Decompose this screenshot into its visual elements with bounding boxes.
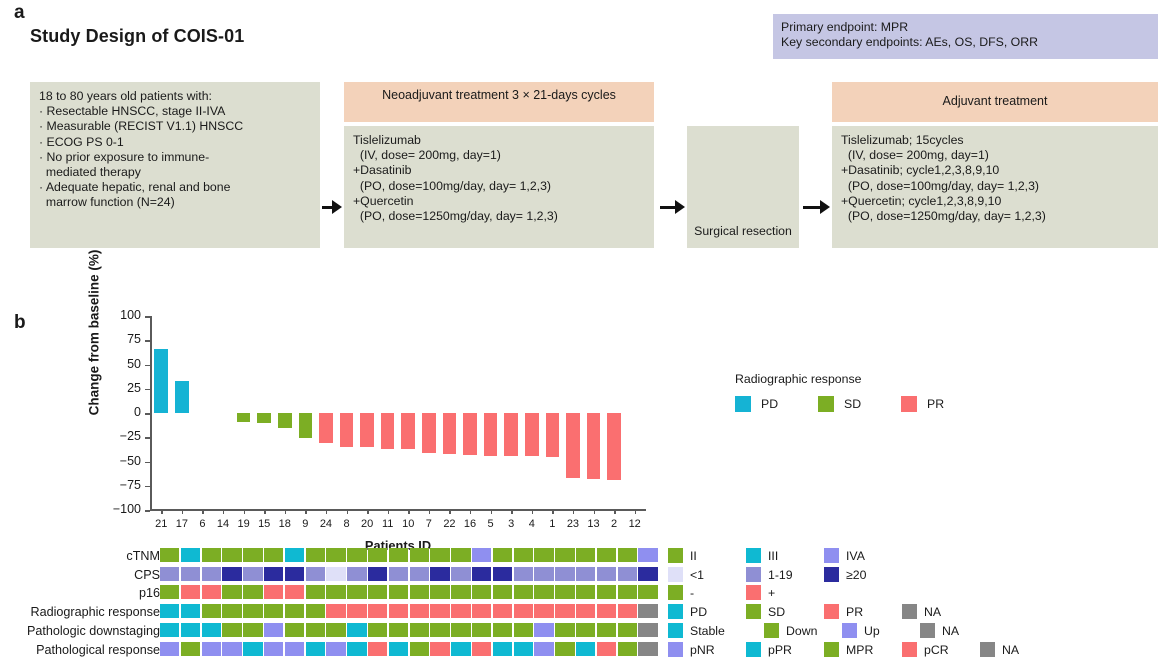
x-tick-label: 9: [295, 518, 316, 530]
heatmap-cell: [451, 604, 470, 618]
waterfall-bar: [484, 413, 498, 456]
heatmap-legend-label: pPR: [768, 643, 792, 657]
x-tick-mark: [614, 510, 615, 514]
heatmap-cell: [576, 585, 595, 599]
legend-label: PR: [927, 397, 944, 411]
heatmap-cell: [202, 567, 221, 581]
heatmap-cell: [597, 642, 616, 656]
heatmap-cell: [430, 604, 449, 618]
heatmap-legend-label: NA: [924, 605, 941, 619]
heatmap-cell: [181, 604, 200, 618]
heatmap-cell: [347, 623, 366, 637]
waterfall-bar: [587, 413, 601, 479]
x-tick-label: 8: [336, 518, 357, 530]
heatmap-cell: [264, 567, 283, 581]
heatmap-legend-label: IVA: [846, 549, 865, 563]
heatmap-cell: [534, 604, 553, 618]
neoadjuvant-header: Neoadjuvant treatment 3 × 21-days cycles: [344, 82, 654, 122]
x-tick-label: 11: [377, 518, 398, 530]
waterfall-bar: [525, 413, 539, 456]
heatmap-legend-label: III: [768, 549, 778, 563]
heatmap-cell: [243, 604, 262, 618]
heatmap-cell: [368, 642, 387, 656]
heatmap-row-label: Pathologic downstaging: [0, 624, 160, 638]
heatmap-cell: [576, 548, 595, 562]
adjuvant-text: Tislelizumab; 15cycles (IV, dose= 200mg,…: [832, 126, 1158, 224]
waterfall-bar: [401, 413, 415, 449]
heatmap-cell: [285, 567, 304, 581]
arrow-neoadjuvant-to-surgery: [660, 200, 686, 214]
heatmap-cell: [514, 604, 533, 618]
x-tick-label: 15: [254, 518, 275, 530]
x-tick-label: 12: [624, 518, 645, 530]
heatmap-cell: [534, 642, 553, 656]
x-tick-label: 5: [480, 518, 501, 530]
waterfall-bar: [566, 413, 580, 478]
heatmap-cell: [389, 623, 408, 637]
x-tick-mark: [388, 510, 389, 514]
heatmap-cell: [410, 623, 429, 637]
heatmap-cell: [618, 585, 637, 599]
heatmap-cell: [243, 567, 262, 581]
heatmap-cell: [347, 604, 366, 618]
heatmap-cell: [160, 604, 179, 618]
heatmap-legend-swatch: [902, 604, 917, 619]
heatmap-cell: [368, 567, 387, 581]
heatmap-legend-swatch: [668, 548, 683, 563]
heatmap-cell: [493, 623, 512, 637]
x-tick-mark: [594, 510, 595, 514]
heatmap-cell: [638, 567, 657, 581]
x-tick-mark: [202, 510, 203, 514]
x-tick-mark: [347, 510, 348, 514]
heatmap-cell: [514, 642, 533, 656]
eligibility-text: 18 to 80 years old patients with: · Rese…: [30, 82, 320, 211]
heatmap-cell: [389, 642, 408, 656]
heatmap-cell: [638, 642, 657, 656]
heatmap-legend-label: SD: [768, 605, 785, 619]
heatmap-cell: [326, 623, 345, 637]
heatmap-cell: [285, 548, 304, 562]
heatmap-cell: [306, 604, 325, 618]
x-tick-mark: [326, 510, 327, 514]
x-tick-label: 14: [213, 518, 234, 530]
x-tick-mark: [491, 510, 492, 514]
heatmap-legend-label: MPR: [846, 643, 873, 657]
waterfall-bar: [340, 413, 354, 447]
waterfall-bar: [422, 413, 436, 453]
panel-a-letter: a: [14, 2, 25, 24]
adjuvant-header: Adjuvant treatment: [832, 82, 1158, 122]
x-tick-mark: [573, 510, 574, 514]
clinical-annotation-heatmap: cTNMIIIIIIVACPS<11-19≥20p16-+Radiographi…: [0, 548, 1169, 668]
heatmap-cell: [222, 567, 241, 581]
x-tick-mark: [305, 510, 306, 514]
waterfall-bar: [360, 413, 374, 447]
x-tick-mark: [161, 510, 162, 514]
waterfall-bar: [299, 413, 313, 438]
heatmap-cell: [514, 548, 533, 562]
heatmap-cell: [202, 585, 221, 599]
x-tick-label: 21: [151, 518, 172, 530]
heatmap-legend-label: NA: [1002, 643, 1019, 657]
heatmap-cell: [514, 585, 533, 599]
heatmap-legend-swatch: [746, 548, 761, 563]
heatmap-cell: [368, 604, 387, 618]
heatmap-row-label: Pathological response: [0, 643, 160, 657]
x-tick-label: 7: [419, 518, 440, 530]
y-axis-label: Change from baseline (%): [87, 233, 102, 433]
heatmap-legend-swatch: [902, 642, 917, 657]
waterfall-bar: [319, 413, 333, 443]
heatmap-cell: [243, 585, 262, 599]
heatmap-legend-label: +: [768, 586, 775, 600]
heatmap-cell: [597, 567, 616, 581]
waterfall-bar: [463, 413, 477, 455]
heatmap-cell: [493, 642, 512, 656]
heatmap-legend-label: Up: [864, 624, 880, 638]
waterfall-bar: [443, 413, 457, 454]
heatmap-cell: [202, 642, 221, 656]
heatmap-cell: [389, 548, 408, 562]
heatmap-legend-label: 1-19: [768, 568, 793, 582]
x-tick-mark: [429, 510, 430, 514]
heatmap-legend-swatch: [764, 623, 779, 638]
heatmap-cell: [597, 548, 616, 562]
heatmap-cell: [555, 642, 574, 656]
x-tick-label: 18: [275, 518, 296, 530]
heatmap-cell: [576, 623, 595, 637]
heatmap-legend-label: Down: [786, 624, 817, 638]
heatmap-legend-swatch: [824, 567, 839, 582]
heatmap-cell: [326, 642, 345, 656]
heatmap-cell: [160, 548, 179, 562]
heatmap-legend-swatch: [920, 623, 935, 638]
heatmap-cell: [430, 548, 449, 562]
heatmap-cell: [618, 623, 637, 637]
heatmap-cell: [514, 567, 533, 581]
waterfall-bar: [381, 413, 395, 449]
heatmap-cell: [618, 642, 637, 656]
heatmap-cell: [618, 548, 637, 562]
heatmap-legend-label: PR: [846, 605, 863, 619]
heatmap-cell: [472, 604, 491, 618]
y-tick-label: 0: [105, 405, 141, 419]
heatmap-cell: [555, 585, 574, 599]
heatmap-legend-swatch: [824, 604, 839, 619]
x-tick-mark: [367, 510, 368, 514]
heatmap-cell: [285, 585, 304, 599]
heatmap-cell: [243, 623, 262, 637]
heatmap-cell: [576, 642, 595, 656]
x-tick-label: 2: [604, 518, 625, 530]
heatmap-cell: [534, 548, 553, 562]
heatmap-cell: [222, 623, 241, 637]
heatmap-cell: [222, 585, 241, 599]
waterfall-bar: [607, 413, 621, 480]
heatmap-legend-label: -: [690, 586, 694, 600]
heatmap-cell: [160, 642, 179, 656]
heatmap-cell: [555, 604, 574, 618]
heatmap-cell: [181, 567, 200, 581]
heatmap-cell: [618, 604, 637, 618]
heatmap-legend-swatch: [824, 548, 839, 563]
heatmap-legend-label: PD: [690, 605, 707, 619]
y-tick-label: 50: [105, 357, 141, 371]
heatmap-cell: [576, 604, 595, 618]
heatmap-cell: [555, 623, 574, 637]
panel-b-letter: b: [14, 312, 26, 334]
legend-swatch: [901, 396, 917, 412]
heatmap-cell: [326, 548, 345, 562]
legend-swatch: [818, 396, 834, 412]
heatmap-cell: [306, 623, 325, 637]
heatmap-cell: [347, 585, 366, 599]
heatmap-cell: [202, 623, 221, 637]
study-design-title: Study Design of COIS-01: [30, 26, 244, 47]
heatmap-cell: [576, 567, 595, 581]
x-tick-label: 4: [522, 518, 543, 530]
heatmap-cell: [638, 548, 657, 562]
radiographic-response-legend-title: Radiographic response: [735, 372, 861, 386]
heatmap-cell: [410, 642, 429, 656]
heatmap-cell: [202, 604, 221, 618]
heatmap-cell: [430, 585, 449, 599]
heatmap-legend-swatch: [668, 642, 683, 657]
x-tick-label: 13: [583, 518, 604, 530]
heatmap-cell: [430, 623, 449, 637]
legend-swatch: [735, 396, 751, 412]
y-tick-label: −50: [105, 454, 141, 468]
heatmap-cell: [389, 585, 408, 599]
x-tick-mark: [532, 510, 533, 514]
heatmap-cell: [638, 604, 657, 618]
heatmap-cell: [389, 604, 408, 618]
heatmap-cell: [306, 642, 325, 656]
heatmap-row-label: p16: [0, 586, 160, 600]
heatmap-cell: [264, 604, 283, 618]
heatmap-cell: [472, 548, 491, 562]
heatmap-cell: [618, 567, 637, 581]
x-tick-label: 10: [398, 518, 419, 530]
x-tick-label: 1: [542, 518, 563, 530]
heatmap-cell: [555, 548, 574, 562]
x-tick-label: 22: [439, 518, 460, 530]
heatmap-cell: [326, 604, 345, 618]
heatmap-cell: [347, 548, 366, 562]
heatmap-cell: [306, 567, 325, 581]
heatmap-cell: [451, 585, 470, 599]
heatmap-cell: [347, 567, 366, 581]
heatmap-cell: [264, 548, 283, 562]
heatmap-cell: [430, 642, 449, 656]
x-tick-label: 17: [172, 518, 193, 530]
heatmap-cell: [472, 567, 491, 581]
waterfall-bar: [546, 413, 560, 457]
heatmap-cell: [534, 567, 553, 581]
heatmap-cell: [493, 604, 512, 618]
heatmap-cell: [451, 548, 470, 562]
arrow-surgery-to-adjuvant: [803, 200, 831, 214]
heatmap-legend-swatch: [668, 623, 683, 638]
heatmap-cell: [243, 642, 262, 656]
surgical-resection-label: Surgical resection: [687, 224, 799, 238]
heatmap-legend-label: Stable: [690, 624, 725, 638]
heatmap-cell: [160, 567, 179, 581]
heatmap-cell: [472, 623, 491, 637]
heatmap-cell: [451, 567, 470, 581]
heatmap-cell: [410, 567, 429, 581]
x-tick-mark: [244, 510, 245, 514]
heatmap-cell: [285, 623, 304, 637]
heatmap-legend-swatch: [746, 585, 761, 600]
heatmap-cell: [389, 567, 408, 581]
heatmap-cell: [597, 585, 616, 599]
heatmap-cell: [181, 623, 200, 637]
heatmap-cell: [410, 604, 429, 618]
x-tick-label: 16: [460, 518, 481, 530]
heatmap-cell: [222, 642, 241, 656]
heatmap-cell: [202, 548, 221, 562]
heatmap-legend-swatch: [668, 567, 683, 582]
heatmap-cell: [243, 548, 262, 562]
heatmap-cell: [597, 623, 616, 637]
x-tick-mark: [552, 510, 553, 514]
legend-label: SD: [844, 397, 861, 411]
x-tick-label: 23: [563, 518, 584, 530]
endpoints-box: Primary endpoint: MPR Key secondary endp…: [773, 14, 1158, 59]
x-tick-label: 6: [192, 518, 213, 530]
heatmap-cell: [285, 642, 304, 656]
neoadjuvant-text: Tislelizumab (IV, dose= 200mg, day=1) +D…: [344, 126, 654, 224]
heatmap-legend-label: NA: [942, 624, 959, 638]
heatmap-cell: [368, 585, 387, 599]
legend-label: PD: [761, 397, 778, 411]
x-tick-mark: [449, 510, 450, 514]
x-tick-mark: [285, 510, 286, 514]
y-tick-label: 100: [105, 308, 141, 322]
heatmap-legend-swatch: [824, 642, 839, 657]
heatmap-cell: [555, 567, 574, 581]
heatmap-cell: [264, 642, 283, 656]
heatmap-cell: [264, 623, 283, 637]
heatmap-cell: [326, 567, 345, 581]
heatmap-cell: [160, 623, 179, 637]
heatmap-cell: [638, 623, 657, 637]
heatmap-legend-swatch: [980, 642, 995, 657]
heatmap-cell: [306, 548, 325, 562]
heatmap-cell: [514, 623, 533, 637]
heatmap-cell: [451, 623, 470, 637]
heatmap-cell: [181, 585, 200, 599]
heatmap-cell: [493, 567, 512, 581]
heatmap-cell: [410, 585, 429, 599]
adjuvant-treatment-box: Tislelizumab; 15cycles (IV, dose= 200mg,…: [832, 126, 1158, 248]
heatmap-cell: [410, 548, 429, 562]
heatmap-cell: [493, 585, 512, 599]
waterfall-bar: [237, 413, 251, 422]
heatmap-cell: [326, 585, 345, 599]
neoadjuvant-treatment-box: Tislelizumab (IV, dose= 200mg, day=1) +D…: [344, 126, 654, 248]
heatmap-legend-swatch: [746, 567, 761, 582]
x-tick-mark: [511, 510, 512, 514]
heatmap-cell: [222, 548, 241, 562]
heatmap-cell: [472, 585, 491, 599]
eligibility-criteria-box: 18 to 80 years old patients with: · Rese…: [30, 82, 320, 248]
heatmap-cell: [264, 585, 283, 599]
heatmap-cell: [368, 623, 387, 637]
heatmap-cell: [451, 642, 470, 656]
heatmap-cell: [430, 567, 449, 581]
y-tick-label: −100: [105, 502, 141, 516]
waterfall-bar: [278, 413, 292, 428]
x-tick-label: 19: [233, 518, 254, 530]
heatmap-cell: [638, 585, 657, 599]
heatmap-cell: [160, 585, 179, 599]
y-tick-label: 25: [105, 381, 141, 395]
heatmap-row-label: cTNM: [0, 549, 160, 563]
heatmap-legend-swatch: [746, 642, 761, 657]
waterfall-bar: [504, 413, 518, 456]
heatmap-cell: [597, 604, 616, 618]
heatmap-legend-swatch: [842, 623, 857, 638]
heatmap-cell: [534, 623, 553, 637]
x-tick-label: 20: [357, 518, 378, 530]
heatmap-legend-label: ≥20: [846, 568, 866, 582]
heatmap-cell: [534, 585, 553, 599]
x-tick-mark: [223, 510, 224, 514]
heatmap-cell: [472, 642, 491, 656]
x-tick-label: 24: [316, 518, 337, 530]
heatmap-cell: [493, 548, 512, 562]
heatmap-cell: [285, 604, 304, 618]
x-tick-mark: [264, 510, 265, 514]
heatmap-cell: [181, 548, 200, 562]
x-tick-mark: [408, 510, 409, 514]
x-tick-mark: [470, 510, 471, 514]
arrow-eligibility-to-neoadjuvant: [322, 200, 342, 214]
heatmap-legend-swatch: [746, 604, 761, 619]
y-tick-label: −75: [105, 478, 141, 492]
waterfall-plot: [151, 316, 645, 510]
x-tick-mark: [182, 510, 183, 514]
x-tick-label: 3: [501, 518, 522, 530]
heatmap-cell: [368, 548, 387, 562]
heatmap-row-label: CPS: [0, 568, 160, 582]
heatmap-cell: [222, 604, 241, 618]
heatmap-cell: [306, 585, 325, 599]
heatmap-legend-label: pCR: [924, 643, 949, 657]
heatmap-cell: [347, 642, 366, 656]
x-tick-mark: [635, 510, 636, 514]
heatmap-legend-swatch: [668, 585, 683, 600]
y-tick-label: 75: [105, 332, 141, 346]
y-tick-label: −25: [105, 429, 141, 443]
heatmap-legend-label: <1: [690, 568, 704, 582]
heatmap-legend-swatch: [668, 604, 683, 619]
waterfall-bar: [154, 349, 168, 413]
heatmap-row-label: Radiographic response: [0, 605, 160, 619]
heatmap-legend-label: II: [690, 549, 697, 563]
heatmap-cell: [181, 642, 200, 656]
waterfall-bar: [175, 381, 189, 413]
waterfall-bar: [257, 413, 271, 423]
heatmap-legend-label: pNR: [690, 643, 715, 657]
